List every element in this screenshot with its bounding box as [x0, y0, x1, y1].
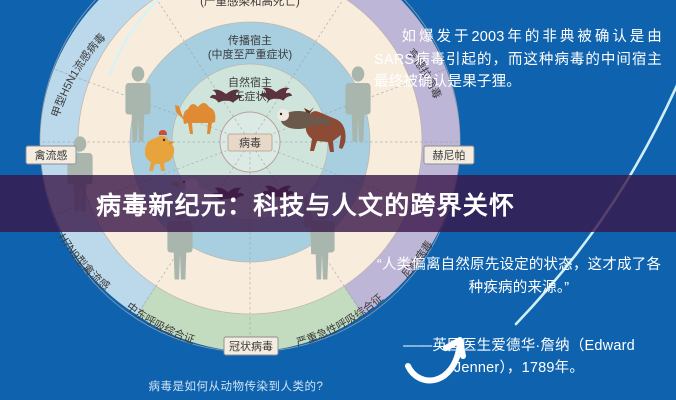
- svg-text:冠状病毒: 冠状病毒: [229, 339, 273, 353]
- quote-text: “人类偏离自然原先设定的状态，这才成了各种疾病的来源。”: [374, 254, 664, 299]
- infographic-canvas: 病毒 溢出宿主 (严重感染和高死亡) 传播宿主 (中度至严重症状) 自然宿主 (…: [0, 0, 676, 400]
- decorative-swoosh-top: [104, 0, 224, 76]
- svg-text:禽流感: 禽流感: [35, 148, 68, 162]
- wheel-center-label: 病毒: [228, 134, 272, 151]
- top-paragraph-text: 如爆发于2003年的非典被确认是由SARS病毒引起的，而这种病毒的中间宿主最终被…: [374, 26, 662, 93]
- family-box-corona: 冠状病毒: [224, 337, 278, 355]
- svg-text:赫尼帕: 赫尼帕: [433, 148, 466, 162]
- title-banner: 病毒新纪元：科技与人文的跨界关怀: [0, 175, 676, 232]
- ring-label-natural: 自然宿主: [228, 75, 272, 89]
- quote-attribution: ——英国医生爱德华·詹纳（Edward Jenner），1789年。: [374, 335, 664, 380]
- quote-block: “人类偏离自然原先设定的状态，这才成了各种疾病的来源。” ——英国医生爱德华·詹…: [374, 232, 664, 400]
- ring-label-natural-sub: (无症状): [230, 89, 270, 103]
- wheel-caption: 病毒是如何从动物传染到人类的?: [86, 378, 386, 394]
- family-box-henipah: 赫尼帕: [424, 146, 474, 164]
- svg-text:病毒: 病毒: [239, 136, 261, 150]
- ring-label-amplifier: 传播宿主: [228, 33, 272, 47]
- family-box-avian: 禽流感: [26, 146, 76, 164]
- top-paragraph: 如爆发于2003年的非典被确认是由SARS病毒引起的，而这种病毒的中间宿主最终被…: [374, 4, 662, 116]
- page-title: 病毒新纪元：科技与人文的跨界关怀: [0, 186, 515, 222]
